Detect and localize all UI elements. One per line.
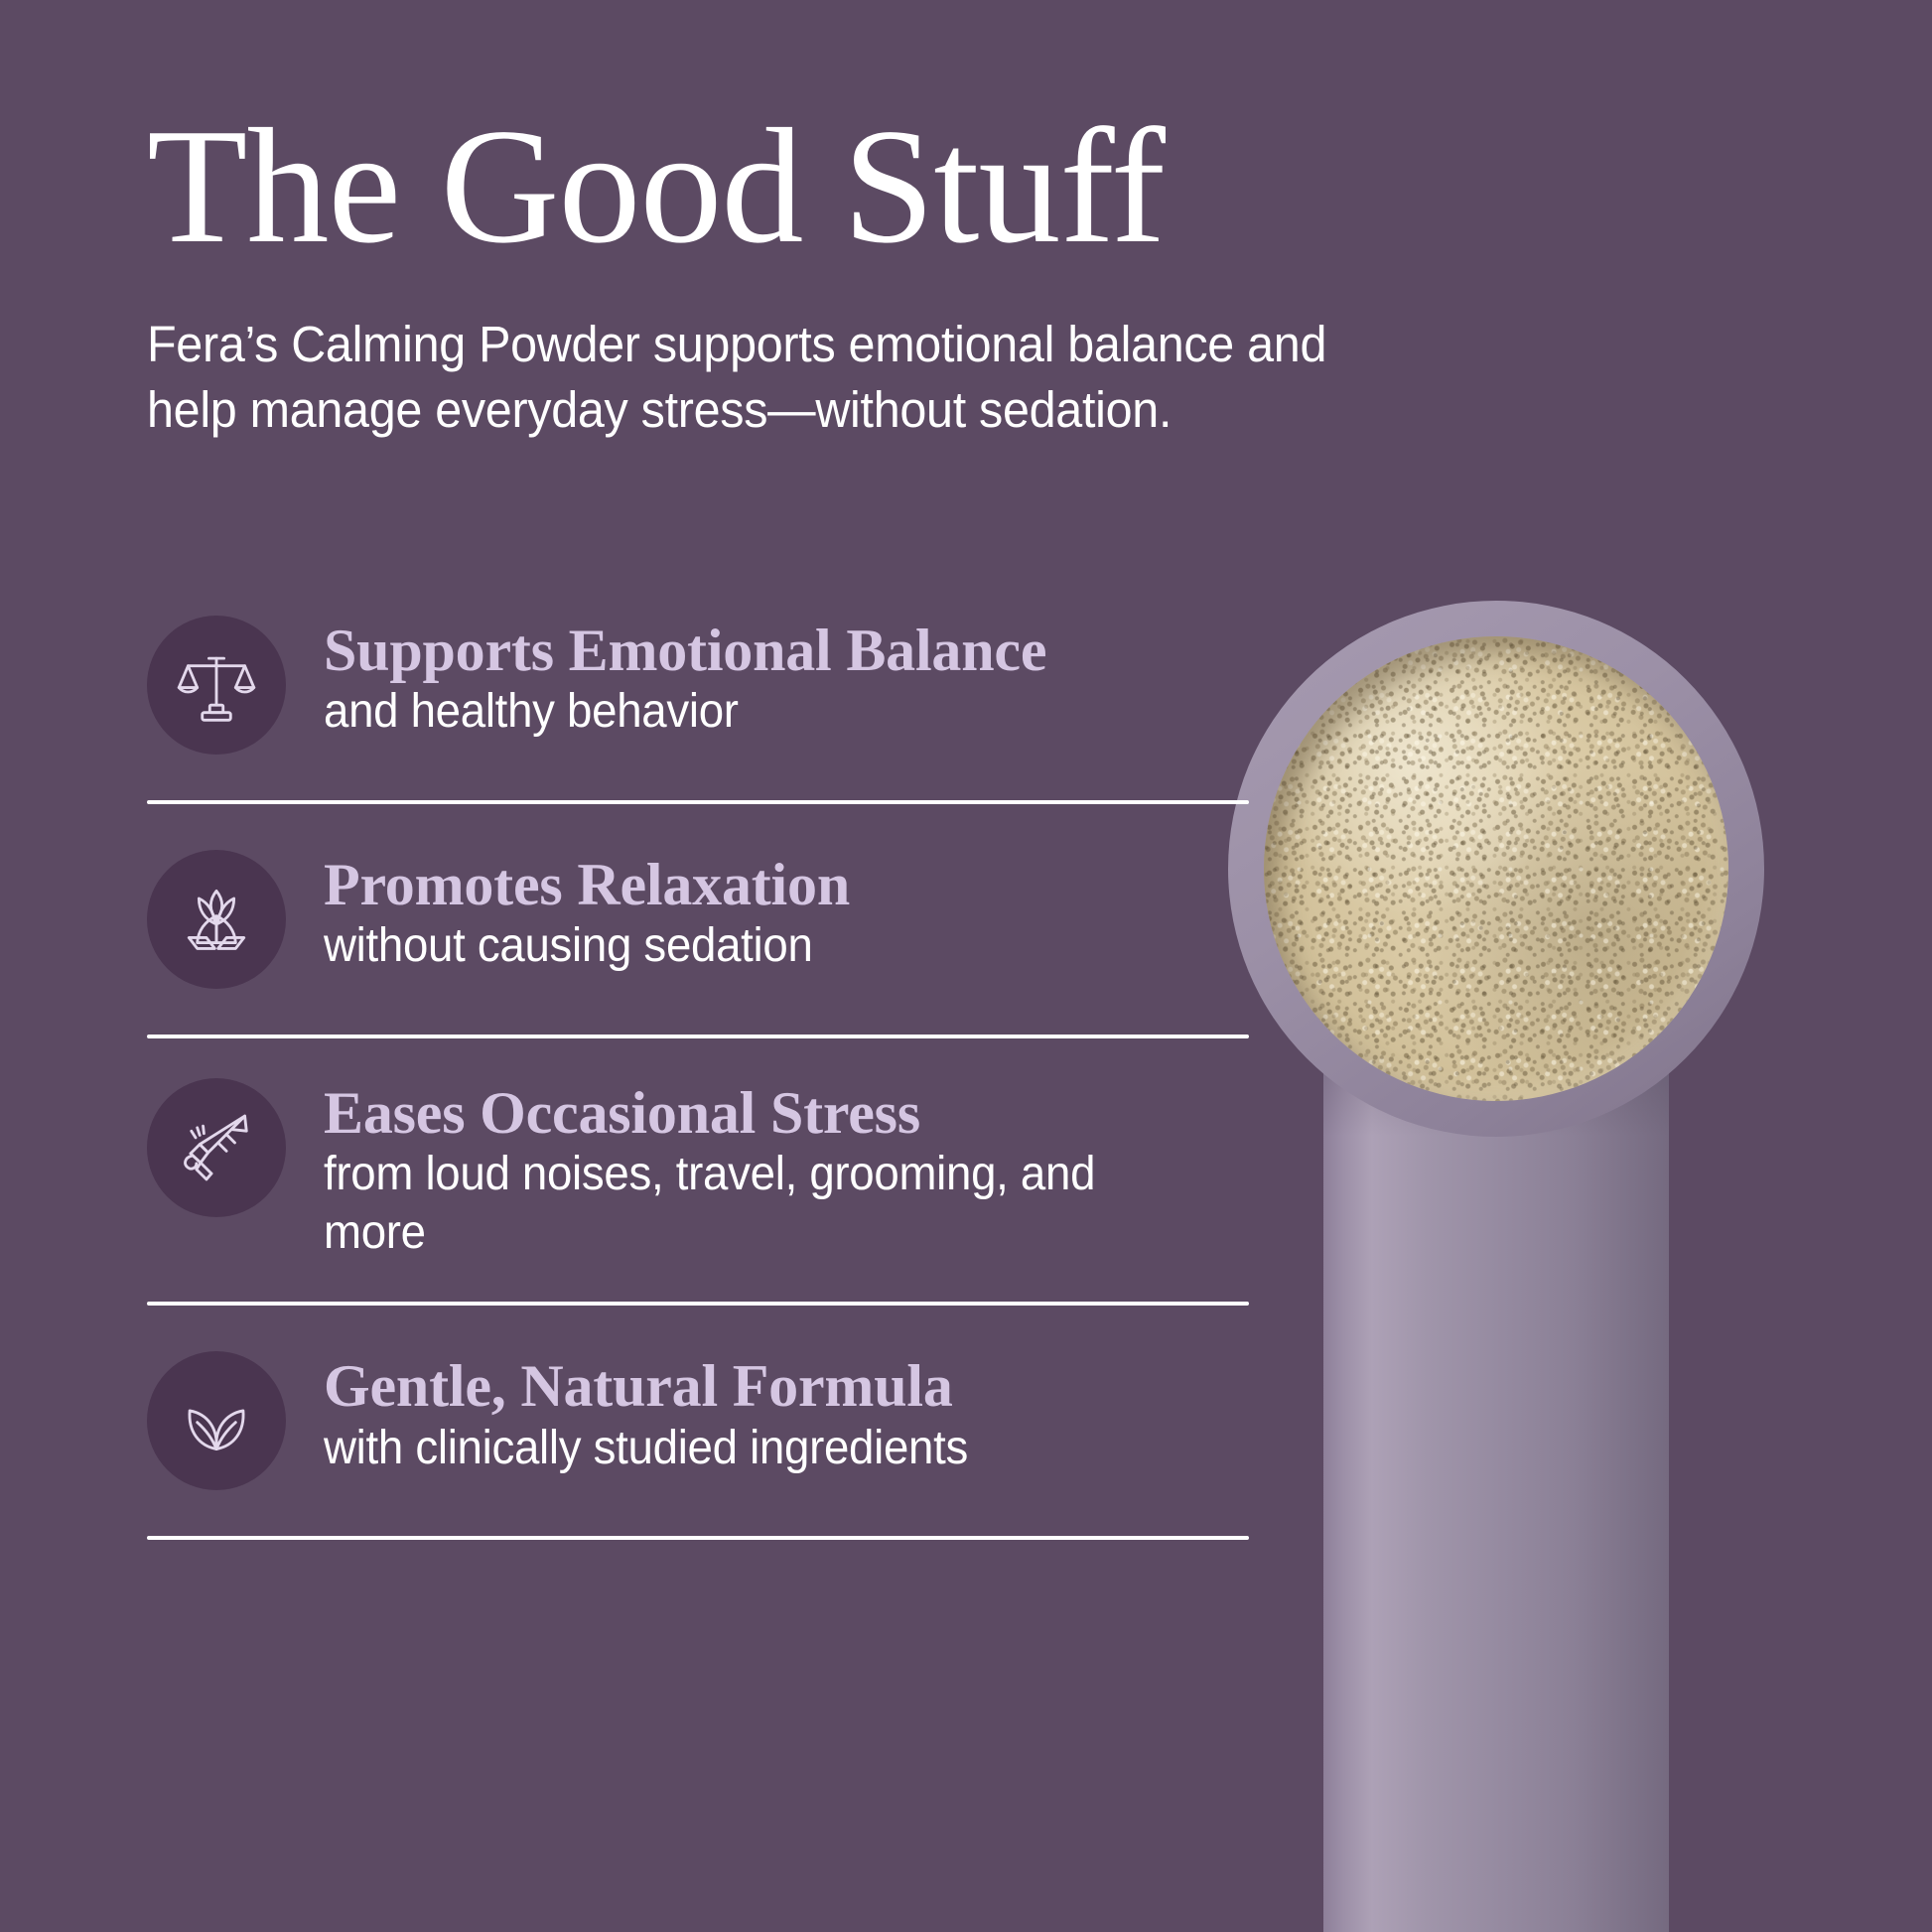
firework-rocket-icon — [175, 1106, 258, 1189]
header-block: The Good Stuff Fera’s Calming Powder sup… — [147, 103, 1487, 444]
feature-subtext: without causing sedation — [324, 917, 1202, 976]
feature-heading: Eases Occasional Stress — [324, 1082, 1249, 1144]
jar-inner-shadow — [1264, 636, 1728, 1101]
feature-row-eases-occasional-stress: Eases Occasional Stress from loud noises… — [147, 1078, 1249, 1262]
balance-scales-icon-badge — [147, 616, 286, 755]
feature-heading: Gentle, Natural Formula — [324, 1355, 1249, 1417]
feature-text-block: Gentle, Natural Formula with clinically … — [286, 1351, 1249, 1477]
jar-rim — [1228, 601, 1764, 1137]
feature-text-block: Promotes Relaxation without causing seda… — [286, 850, 1249, 976]
infographic-canvas: The Good Stuff Fera’s Calming Powder sup… — [0, 0, 1932, 1932]
feature-row-promotes-relaxation: Promotes Relaxation without causing seda… — [147, 850, 1249, 989]
two-leaves-icon — [175, 1379, 258, 1462]
product-jar-image — [1228, 601, 1764, 1932]
two-leaves-icon-badge — [147, 1351, 286, 1490]
balance-scales-icon — [175, 643, 258, 727]
page-subtitle: Fera’s Calming Powder supports emotional… — [147, 312, 1364, 444]
jar-body-shading — [1323, 1028, 1669, 1932]
spacer — [147, 1490, 1249, 1536]
page-title: The Good Stuff — [147, 103, 1487, 268]
feature-row-supports-emotional-balance: Supports Emotional Balance and healthy b… — [147, 616, 1249, 755]
feature-divider-4 — [147, 1536, 1249, 1540]
firework-rocket-icon-badge — [147, 1078, 286, 1217]
spacer — [147, 1262, 1249, 1302]
feature-subtext: from loud noises, travel, grooming, and … — [324, 1146, 1202, 1262]
spacer — [147, 1306, 1249, 1351]
feature-subtext: with clinically studied ingredients — [324, 1420, 1202, 1478]
spacer — [147, 989, 1249, 1035]
feature-heading: Supports Emotional Balance — [324, 620, 1249, 681]
feature-list: Supports Emotional Balance and healthy b… — [147, 616, 1249, 1540]
lotus-flower-icon — [175, 878, 258, 961]
feature-subtext: and healthy behavior — [324, 683, 1202, 742]
spacer — [147, 1038, 1249, 1078]
feature-heading: Promotes Relaxation — [324, 854, 1249, 915]
spacer — [147, 755, 1249, 800]
feature-row-gentle-natural-formula: Gentle, Natural Formula with clinically … — [147, 1351, 1249, 1490]
spacer — [147, 804, 1249, 850]
lotus-flower-icon-badge — [147, 850, 286, 989]
feature-text-block: Supports Emotional Balance and healthy b… — [286, 616, 1249, 742]
feature-text-block: Eases Occasional Stress from loud noises… — [286, 1078, 1249, 1262]
